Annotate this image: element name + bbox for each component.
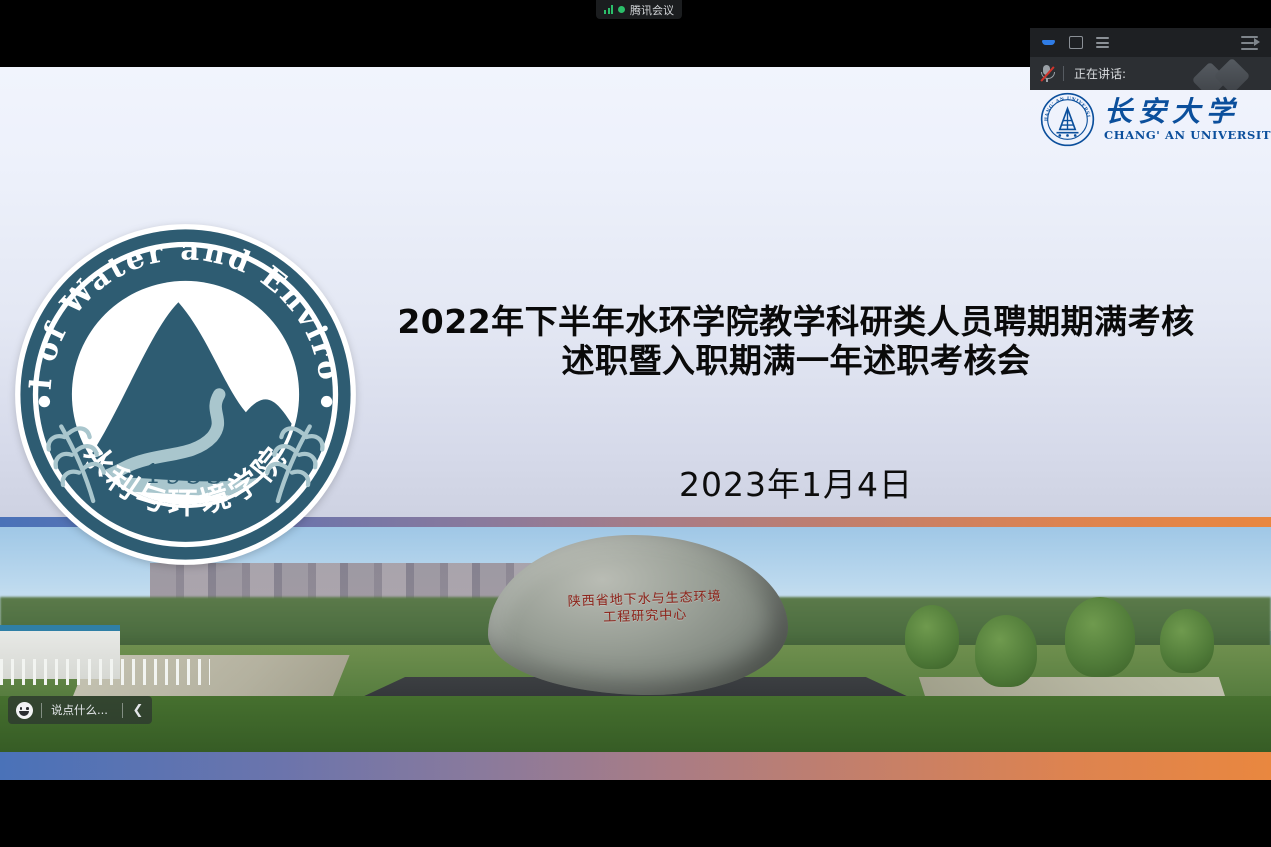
photo-tree [905, 605, 959, 669]
chat-divider [41, 703, 42, 718]
chevron-left-icon[interactable]: ❮ [128, 698, 148, 722]
university-name-cn: 长安大学 [1104, 96, 1271, 128]
meeting-panel-toolbar [1030, 28, 1271, 57]
shared-presentation-slide: 陕西省地下水与生态环境 工程研究中心 [0, 67, 1271, 780]
microphone-muted-icon[interactable] [1039, 64, 1054, 83]
chat-bar[interactable]: 说点什么... ❮ [8, 696, 152, 724]
meeting-floating-panel: 正在讲话: [1030, 28, 1271, 90]
emoji-smiley-icon[interactable] [12, 698, 36, 722]
collapse-panel-icon [1254, 38, 1260, 46]
slide-accent-bar-bottom [0, 752, 1271, 780]
slide-title: 2022年下半年水环学院教学科研类人员聘期期满考核述职暨入职期满一年述职考核会 [386, 302, 1206, 380]
chevron-avatar-icon [1195, 61, 1265, 90]
bottom-letterbox-band [0, 780, 1271, 847]
collapse-panel-button[interactable] [1241, 35, 1261, 51]
chat-input[interactable]: 说点什么... [47, 702, 117, 718]
restore-window-button[interactable] [1067, 34, 1084, 51]
photo-tree [1065, 597, 1135, 677]
minimize-icon [1042, 40, 1055, 45]
recording-status-dot-icon [618, 6, 625, 13]
restore-window-icon [1069, 36, 1083, 49]
university-logo: CHANG' AN UNIVERSITY 长安大学 CHANG' AN UNIV… [1040, 90, 1260, 148]
speaker-divider [1063, 66, 1064, 81]
photo-fence [0, 659, 210, 685]
university-seal-icon: CHANG' AN UNIVERSITY [1040, 92, 1095, 147]
university-name-en: CHANG' AN UNIVERSITY [1104, 128, 1271, 142]
meeting-app-badge[interactable]: 腾讯会议 [596, 0, 682, 19]
photo-foreground-hedge [0, 696, 1271, 752]
school-of-water-and-environment-emblem: School of Water and Environment 水利与环境学院 … [8, 217, 363, 572]
meeting-app-name: 腾讯会议 [630, 2, 674, 18]
signal-bars-icon [604, 5, 613, 14]
svg-text:1953: 1953 [145, 459, 227, 490]
meeting-panel-window-controls [1040, 34, 1111, 51]
participants-list-button[interactable] [1094, 34, 1111, 51]
active-speaker-bar: 正在讲话: [1030, 57, 1271, 90]
university-name-block: 长安大学 CHANG' AN UNIVERSITY [1104, 96, 1271, 142]
photo-tree [975, 615, 1037, 687]
slide-date: 2023年1月4日 [386, 465, 1206, 504]
active-speaker-label: 正在讲话: [1074, 65, 1126, 82]
photo-tree [1160, 609, 1214, 673]
chat-divider [122, 703, 123, 718]
meeting-screen-share-view: 腾讯会议 陕西省地下水与生态环境 工程研究中心 [0, 0, 1271, 847]
minimize-button[interactable] [1040, 34, 1057, 51]
participants-list-icon [1096, 37, 1109, 48]
